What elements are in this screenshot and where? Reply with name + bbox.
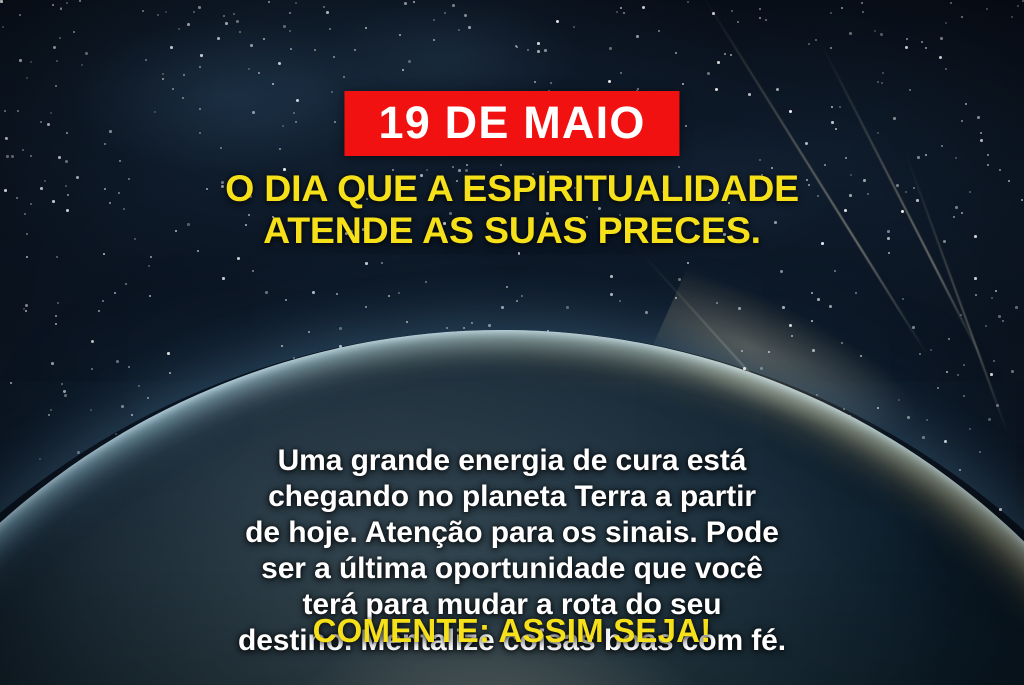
call-to-action: COMENTE: ASSIM SEJA! (0, 614, 1024, 647)
headline-line-2: ATENDE AS SUAS PRECES. (40, 209, 984, 251)
body-copy-line-2: chegando no planeta Terra a partir (24, 479, 1000, 515)
date-banner-label: 19 DE MAIO (378, 100, 645, 145)
headline-line-1: O DIA QUE A ESPIRITUALIDADE (40, 167, 984, 209)
headline: O DIA QUE A ESPIRITUALIDADE ATENDE AS SU… (0, 167, 1024, 251)
call-to-action-label: COMENTE: ASSIM SEJA! (313, 612, 712, 649)
body-copy-line-3: de hoje. Atenção para os sinais. Pode (24, 515, 1000, 551)
date-banner: 19 DE MAIO (344, 91, 679, 156)
body-copy-line-1: Uma grande energia de cura está (24, 443, 1000, 479)
poster-canvas: 19 DE MAIO O DIA QUE A ESPIRITUALIDADE A… (0, 0, 1024, 685)
body-copy-line-4: ser a última oportunidade que você (24, 551, 1000, 587)
poster-content: 19 DE MAIO O DIA QUE A ESPIRITUALIDADE A… (0, 0, 1024, 685)
